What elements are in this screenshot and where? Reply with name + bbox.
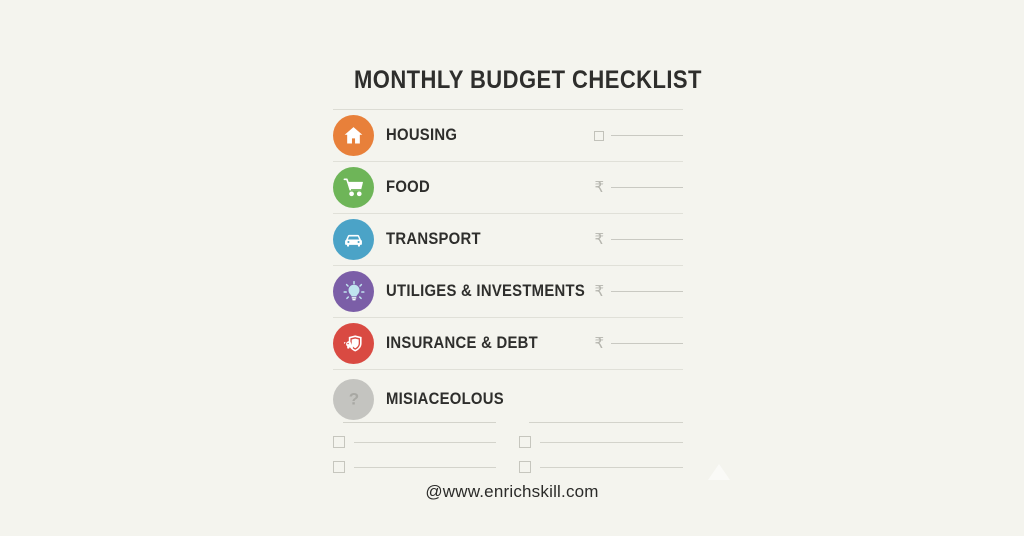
blank-head-line[interactable] — [343, 422, 496, 423]
checklist-row-label: HOUSING — [386, 126, 457, 145]
blank-column-right — [508, 422, 683, 486]
checklist-row-label: UTILIGES & INVESTMENTS — [386, 282, 585, 301]
house-icon — [333, 115, 374, 156]
checklist-row-label: TRANSPORT — [386, 230, 481, 249]
car-icon — [333, 219, 374, 260]
blank-write-line[interactable] — [354, 467, 496, 468]
checklist-row-label: INSURANCE & DEBT — [386, 334, 538, 353]
currency-symbol: ₹ — [594, 336, 604, 351]
utilities-write-line[interactable] — [611, 291, 683, 292]
watermark-triangle-icon — [706, 462, 732, 482]
blank-write-line[interactable] — [540, 467, 683, 468]
blank-entry-row[interactable] — [519, 436, 683, 448]
svg-text:?: ? — [348, 390, 358, 409]
blank-entry-row[interactable] — [333, 461, 496, 473]
blank-checkbox[interactable] — [333, 461, 345, 473]
currency-symbol: ₹ — [594, 180, 604, 195]
checklist-row-label: MISIACEOLOUS — [386, 390, 504, 409]
checklist-row-miscellaneous[interactable]: ? MISIACEOLOUS — [333, 370, 683, 422]
currency-symbol: ₹ — [594, 284, 604, 299]
blank-checkbox[interactable] — [519, 436, 531, 448]
row-entry-transport[interactable]: ₹ — [594, 232, 683, 247]
budget-checklist-card: MONTHLY BUDGET CHECKLIST HOUSING — [333, 60, 683, 490]
blank-entry-row[interactable] — [333, 436, 496, 448]
shopping-cart-icon — [333, 167, 374, 208]
blank-entry-row[interactable] — [519, 461, 683, 473]
insurance-write-line[interactable] — [611, 343, 683, 344]
housing-write-line[interactable] — [611, 135, 683, 136]
blank-write-line[interactable] — [540, 442, 683, 443]
blank-column-left — [333, 422, 508, 486]
currency-symbol: ₹ — [594, 232, 604, 247]
lightbulb-icon — [333, 271, 374, 312]
checklist-row-label: FOOD — [386, 178, 430, 197]
housing-checkbox[interactable] — [594, 131, 604, 141]
row-entry-insurance[interactable]: ₹ — [594, 336, 683, 351]
row-entry-housing[interactable] — [594, 131, 683, 141]
checklist-row-transport[interactable]: TRANSPORT ₹ — [333, 214, 683, 265]
checklist-row-food[interactable]: FOOD ₹ — [333, 162, 683, 213]
transport-write-line[interactable] — [611, 239, 683, 240]
question-mark-icon: ? — [333, 379, 374, 420]
blank-head-line[interactable] — [529, 422, 683, 423]
checklist-row-utilities[interactable]: UTILIGES & INVESTMENTS ₹ — [333, 266, 683, 317]
food-write-line[interactable] — [611, 187, 683, 188]
checklist-row-insurance[interactable]: INSURANCE & DEBT ₹ — [333, 318, 683, 369]
blank-checkbox[interactable] — [333, 436, 345, 448]
miscellaneous-blank-entries — [333, 422, 683, 490]
row-entry-food[interactable]: ₹ — [594, 180, 683, 195]
row-entry-utilities[interactable]: ₹ — [594, 284, 683, 299]
page-title: MONTHLY BUDGET CHECKLIST — [354, 60, 662, 109]
checklist-row-housing[interactable]: HOUSING — [333, 110, 683, 161]
footer-website-url: @www.enrichskill.com — [0, 482, 1024, 502]
blank-write-line[interactable] — [354, 442, 496, 443]
blank-checkbox[interactable] — [519, 461, 531, 473]
shield-piggybank-icon — [333, 323, 374, 364]
